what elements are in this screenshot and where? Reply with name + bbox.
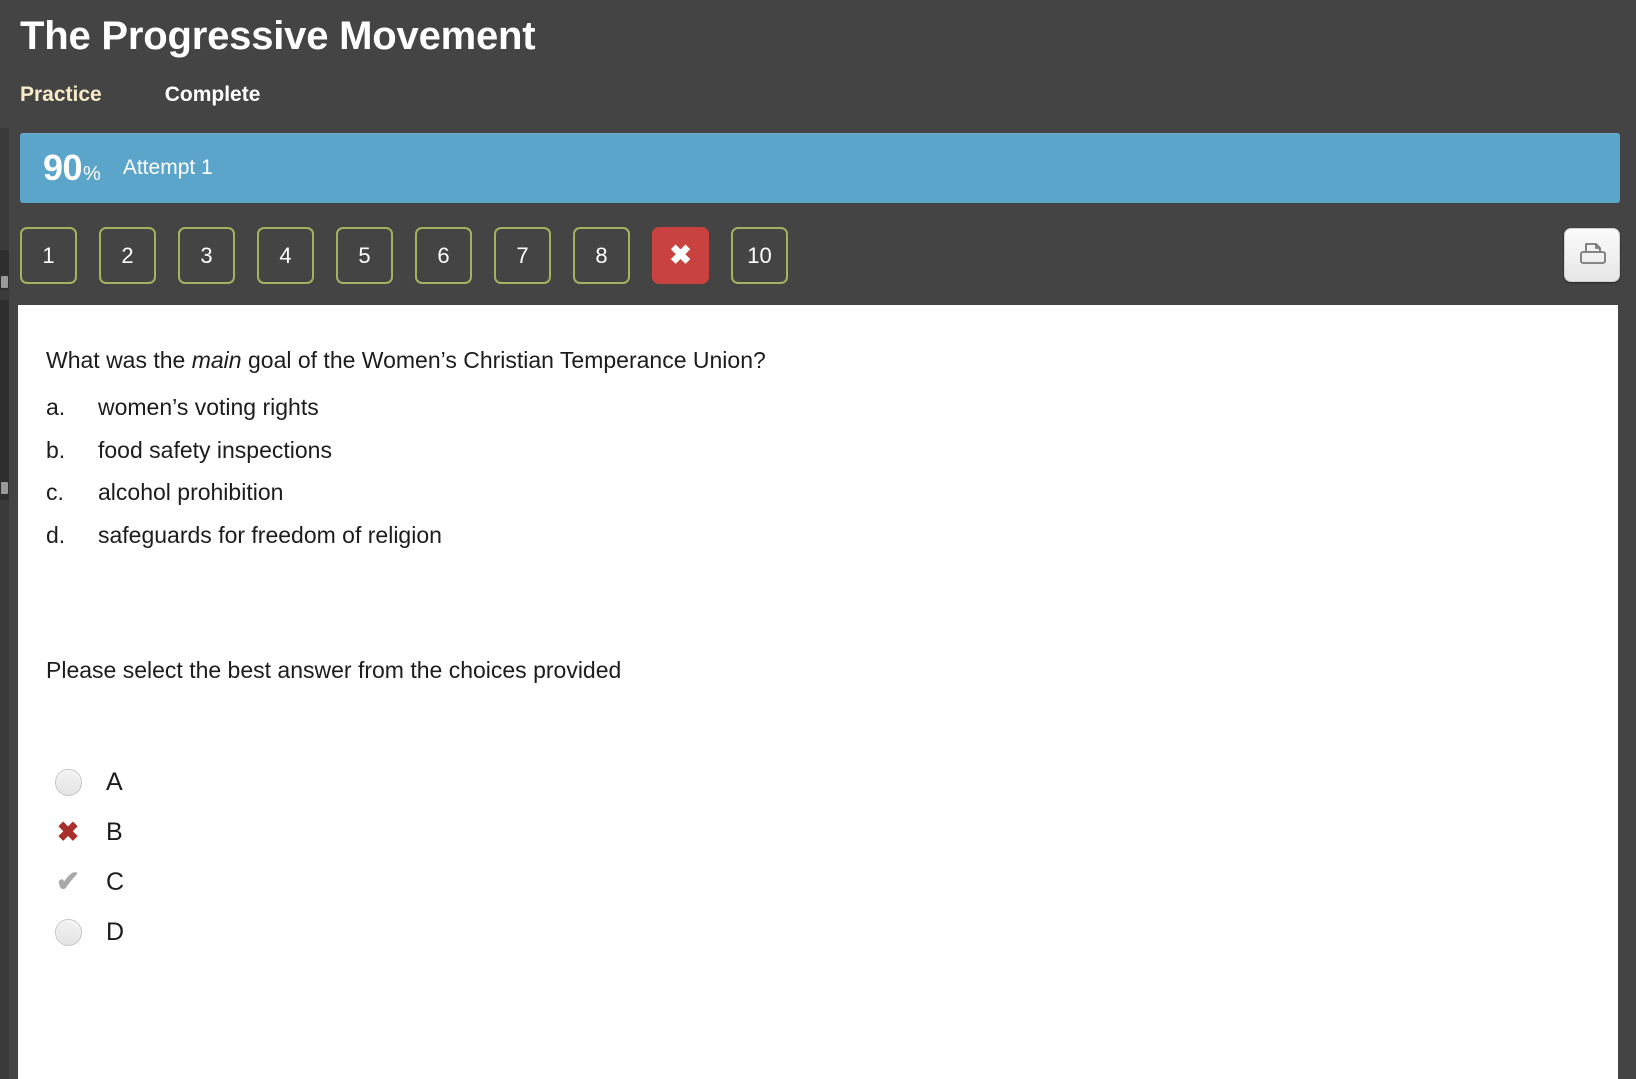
question-nav-button-1[interactable]: 1 [20,227,77,284]
question-option-b-label: b. [46,429,98,472]
question-nav-button-5[interactable]: 5 [336,227,393,284]
scrollbar-nub-lower [1,482,8,494]
question-stem-part2: goal of the Women’s Christian Temperance… [242,347,766,373]
incorrect-x-icon: ✖ [57,819,80,846]
question-nav-button-3[interactable]: 3 [178,227,235,284]
answer-choice-b-letter: B [106,818,123,847]
tab-complete[interactable]: Complete [165,82,261,107]
score-percent-symbol: % [83,163,101,186]
question-nav-button-7[interactable]: 7 [494,227,551,284]
print-button[interactable] [1564,228,1620,282]
question-option-a-text: women’s voting rights [98,386,1546,429]
question-option-b-text: food safety inspections [98,429,1546,472]
question-option-d-text: safeguards for freedom of religion [98,514,1546,557]
tab-practice[interactable]: Practice [20,82,102,107]
subnav: Practice Complete [20,82,260,107]
question-content-panel: What was the main goal of the Women’s Ch… [18,305,1618,1079]
question-options-list: a. women’s voting rights b. food safety … [46,386,1546,556]
question-nav-button-9-incorrect[interactable]: ✖ [652,227,709,284]
close-icon: ✖ [669,242,692,269]
page-title: The Progressive Movement [20,14,535,58]
answer-choice-d-mark [48,915,88,949]
question-option-d-label: d. [46,514,98,557]
question-option-c-text: alcohol prohibition [98,471,1546,514]
correct-check-icon: ✔ [56,868,80,897]
question-option-d: d. safeguards for freedom of religion [46,514,1546,557]
answer-choice-c-letter: C [106,868,124,897]
score-bar: 90 % Attempt 1 [20,133,1620,203]
question-option-a-label: a. [46,386,98,429]
answer-choice-a-mark [48,765,88,799]
scrollbar-nub-upper [1,276,8,288]
question-nav-button-8[interactable]: 8 [573,227,630,284]
answer-choice-d-letter: D [106,918,124,947]
question-option-a: a. women’s voting rights [46,386,1546,429]
answer-choice-b[interactable]: ✖ B [48,807,124,857]
score-percent: 90 % [43,147,101,189]
question-block: What was the main goal of the Women’s Ch… [46,345,1546,556]
answer-choice-c-mark: ✔ [48,865,88,899]
answer-choice-a[interactable]: A [48,757,124,807]
instruction-text: Please select the best answer from the c… [46,657,621,684]
radio-unselected-icon[interactable] [55,769,82,796]
attempt-label: Attempt 1 [123,156,213,180]
radio-unselected-icon[interactable] [55,919,82,946]
answer-choice-b-mark: ✖ [48,815,88,849]
header: The Progressive Movement Practice Comple… [0,0,1636,128]
question-nav-button-10[interactable]: 10 [731,227,788,284]
question-nav-button-4[interactable]: 4 [257,227,314,284]
answer-choice-list: A ✖ B ✔ C D [48,757,124,957]
question-stem: What was the main goal of the Women’s Ch… [46,345,1546,376]
printer-icon [1577,241,1607,269]
question-nav: 1 2 3 4 5 6 7 8 ✖ 10 [20,227,788,284]
quiz-review-screen: The Progressive Movement Practice Comple… [0,0,1636,1079]
answer-choice-a-letter: A [106,768,123,797]
answer-choice-d[interactable]: D [48,907,124,957]
answer-choice-c[interactable]: ✔ C [48,857,124,907]
question-option-b: b. food safety inspections [46,429,1546,472]
left-scrollbar[interactable] [0,0,9,1079]
question-nav-button-6[interactable]: 6 [415,227,472,284]
question-nav-button-2[interactable]: 2 [99,227,156,284]
question-stem-emphasis: main [192,347,242,373]
question-option-c: c. alcohol prohibition [46,471,1546,514]
scrollbar-thumb-lower[interactable] [0,300,9,500]
score-percent-value: 90 [43,147,82,189]
question-option-c-label: c. [46,471,98,514]
question-stem-part1: What was the [46,347,192,373]
